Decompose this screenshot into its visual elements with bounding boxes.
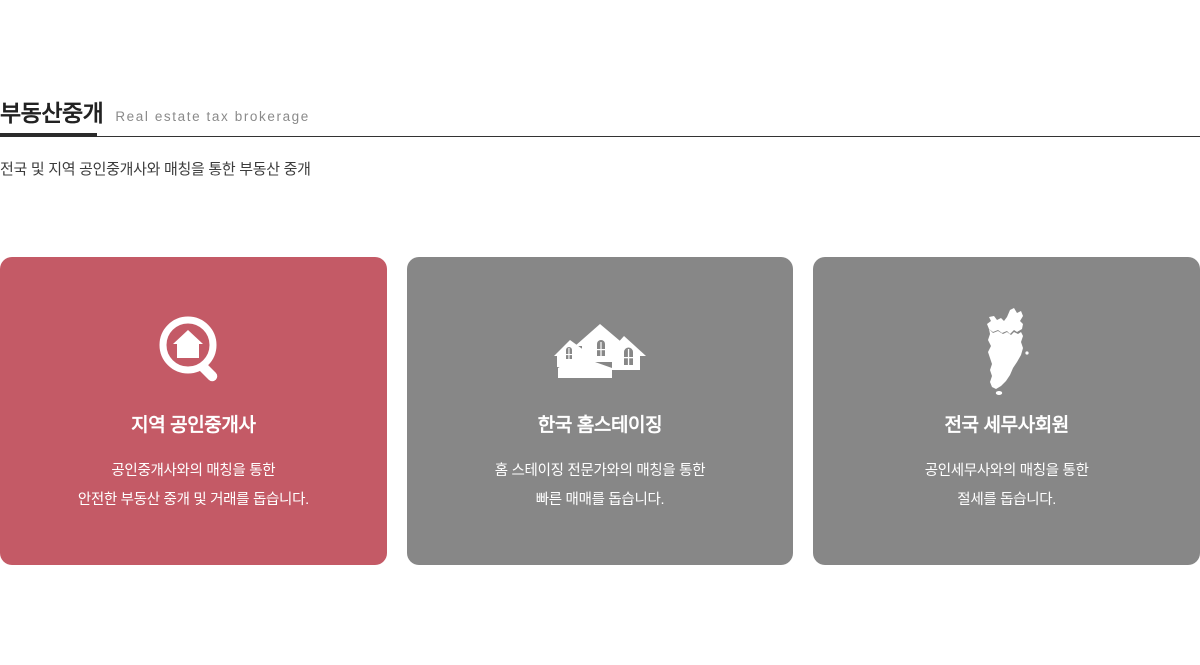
description-line-1: 공인중개사와의 매칭을 통한	[78, 457, 309, 486]
header-divider-line	[0, 136, 1200, 137]
page-root: 부동산중개 Real estate tax brokerage 전국 및 지역 …	[0, 0, 1200, 665]
description-line-2: 절세를 돕습니다.	[925, 486, 1089, 515]
description-line-1: 공인세무사와의 매칭을 통한	[925, 457, 1089, 486]
header-accent-bar	[0, 133, 97, 137]
section-header: 부동산중개 Real estate tax brokerage	[0, 98, 1200, 138]
service-card-local-agent[interactable]: 지역 공인중개사 공인중개사와의 매칭을 통한 안전한 부동산 중개 및 거래를…	[0, 257, 387, 565]
header-row: 부동산중개 Real estate tax brokerage	[0, 98, 1200, 134]
service-card-description: 공인세무사와의 매칭을 통한 절세를 돕습니다.	[925, 457, 1089, 515]
page-subtitle-english: Real estate tax brokerage	[115, 107, 310, 127]
page-title: 부동산중개	[0, 98, 103, 128]
service-card-title: 한국 홈스테이징	[538, 413, 662, 439]
service-card-tax-accountant[interactable]: 전국 세무사회원 공인세무사와의 매칭을 통한 절세를 돕습니다.	[813, 257, 1200, 565]
description-line-2: 빠른 매매를 돕습니다.	[495, 486, 706, 515]
service-card-title: 전국 세무사회원	[944, 413, 1068, 439]
description-line-1: 홈 스테이징 전문가와의 매칭을 통한	[495, 457, 706, 486]
service-card-title: 지역 공인중개사	[131, 413, 255, 439]
section-description: 전국 및 지역 공인중개사와 매칭을 통한 부동산 중개	[0, 158, 800, 182]
service-card-home-staging[interactable]: 한국 홈스테이징 홈 스테이징 전문가와의 매칭을 통한 빠른 매매를 돕습니다…	[407, 257, 794, 565]
house-search-icon	[145, 309, 241, 395]
korea-map-icon	[959, 309, 1055, 395]
service-card-row: 지역 공인중개사 공인중개사와의 매칭을 통한 안전한 부동산 중개 및 거래를…	[0, 257, 1200, 565]
rooftops-icon	[552, 309, 648, 395]
service-card-description: 공인중개사와의 매칭을 통한 안전한 부동산 중개 및 거래를 돕습니다.	[78, 457, 309, 515]
description-line-2: 안전한 부동산 중개 및 거래를 돕습니다.	[78, 486, 309, 515]
service-card-description: 홈 스테이징 전문가와의 매칭을 통한 빠른 매매를 돕습니다.	[495, 457, 706, 515]
